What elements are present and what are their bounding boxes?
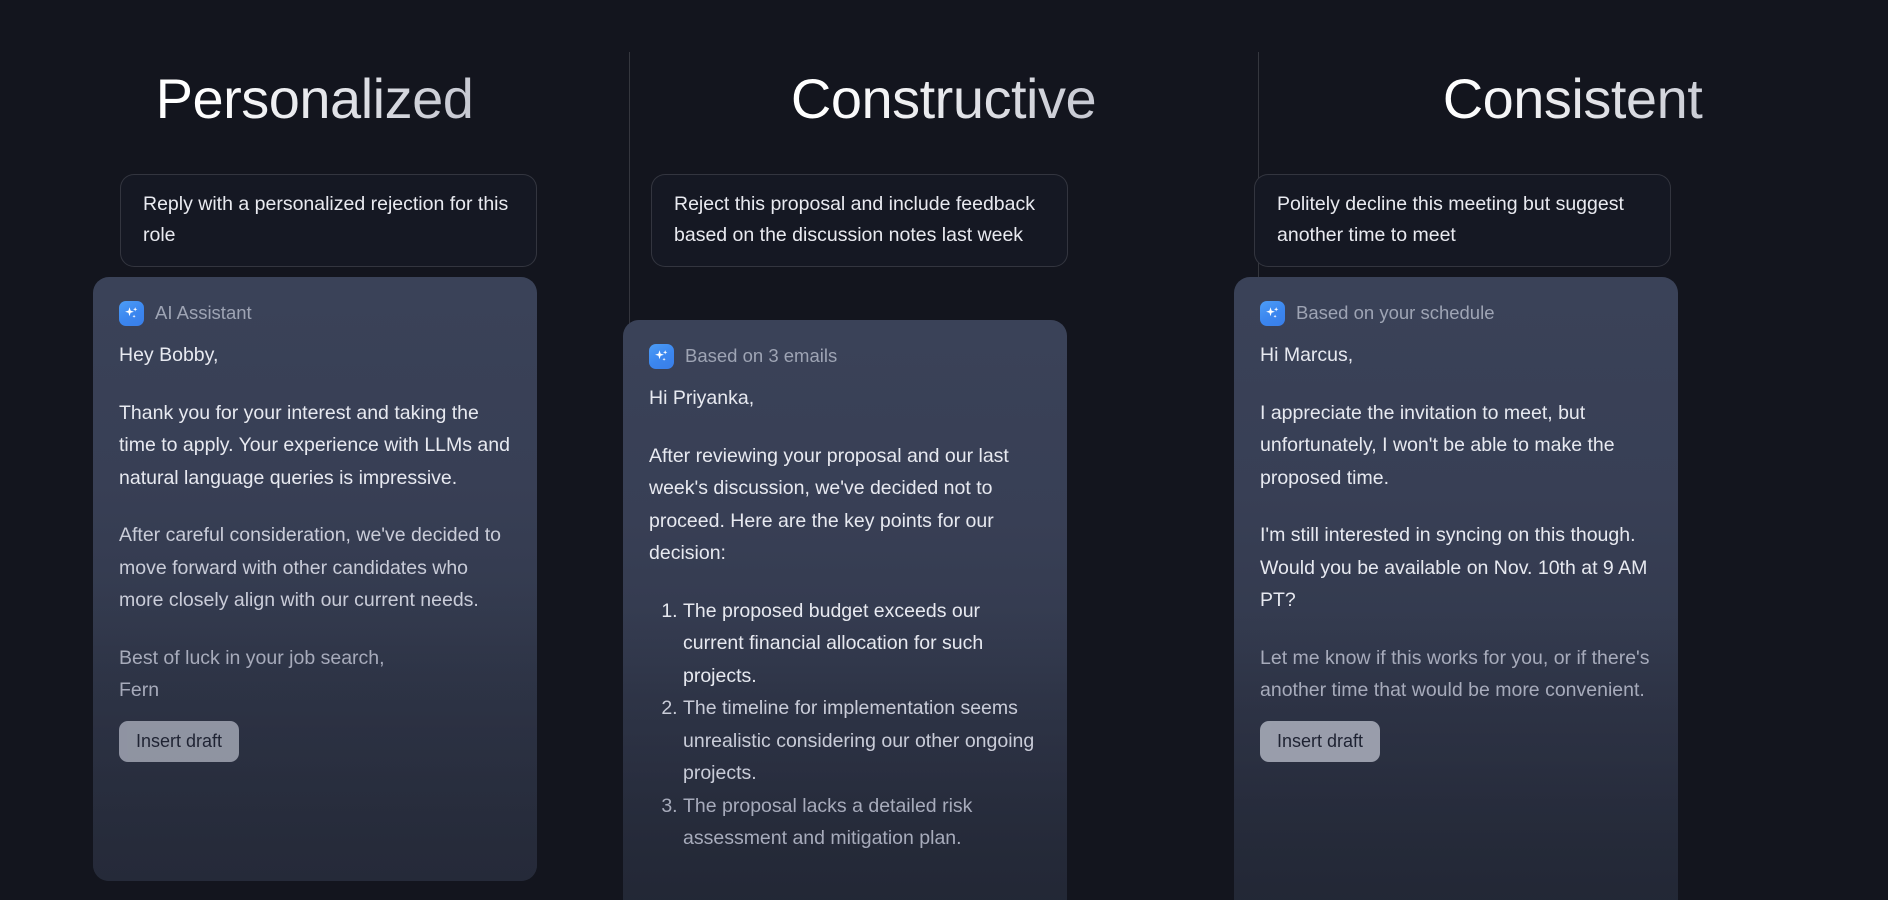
signature: Fern [119,674,511,707]
paragraph-1: After reviewing your proposal and our la… [649,440,1041,570]
draft-card: Based on 3 emails Hi Priyanka, After rev… [623,320,1067,900]
key-points-list: The proposed budget exceeds our current … [649,595,1041,855]
list-item: The proposed budget exceeds our current … [683,595,1041,693]
column-constructive: Constructive Reject this proposal and in… [629,0,1258,900]
greeting: Hi Marcus, [1260,339,1652,372]
paragraph-1: I appreciate the invitation to meet, but… [1260,397,1652,495]
insert-draft-button[interactable]: Insert draft [1260,721,1380,762]
paragraph-1: Thank you for your interest and taking t… [119,397,511,495]
draft-body: Hi Marcus, I appreciate the invitation t… [1260,339,1652,762]
paragraph-2: After careful consideration, we've decid… [119,519,511,617]
card-header-label: Based on your schedule [1296,304,1495,323]
column-title: Constructive [629,68,1258,130]
card-header-label: AI Assistant [155,304,252,323]
ai-sparkle-icon [1260,301,1285,326]
card-header-label: Based on 3 emails [685,347,837,366]
greeting: Hi Priyanka, [649,382,1041,415]
list-item: The timeline for implementation seems un… [683,692,1041,790]
draft-body: Hey Bobby, Thank you for your interest a… [119,339,511,762]
prompt-bubble[interactable]: Reject this proposal and include feedbac… [651,174,1068,267]
prompt-bubble[interactable]: Reply with a personalized rejection for … [120,174,537,267]
comparison-board: Personalized Reply with a personalized r… [0,0,1888,900]
column-personalized: Personalized Reply with a personalized r… [0,0,629,900]
card-header: AI Assistant [119,301,511,326]
list-item: The proposal lacks a detailed risk asses… [683,790,1041,855]
paragraph-3: Let me know if this works for you, or if… [1260,642,1652,707]
ai-sparkle-icon [649,344,674,369]
column-consistent: Consistent Politely decline this meeting… [1258,0,1887,900]
draft-card: AI Assistant Hey Bobby, Thank you for yo… [93,277,537,881]
draft-body: Hi Priyanka, After reviewing your propos… [649,382,1041,855]
column-title: Personalized [0,68,629,130]
column-title: Consistent [1258,68,1887,130]
paragraph-2: I'm still interested in syncing on this … [1260,519,1652,617]
insert-draft-button[interactable]: Insert draft [119,721,239,762]
draft-card: Based on your schedule Hi Marcus, I appr… [1234,277,1678,900]
greeting: Hey Bobby, [119,339,511,372]
card-header: Based on 3 emails [649,344,1041,369]
ai-sparkle-icon [119,301,144,326]
prompt-bubble[interactable]: Politely decline this meeting but sugges… [1254,174,1671,267]
closing-line: Best of luck in your job search, [119,642,511,675]
card-header: Based on your schedule [1260,301,1652,326]
